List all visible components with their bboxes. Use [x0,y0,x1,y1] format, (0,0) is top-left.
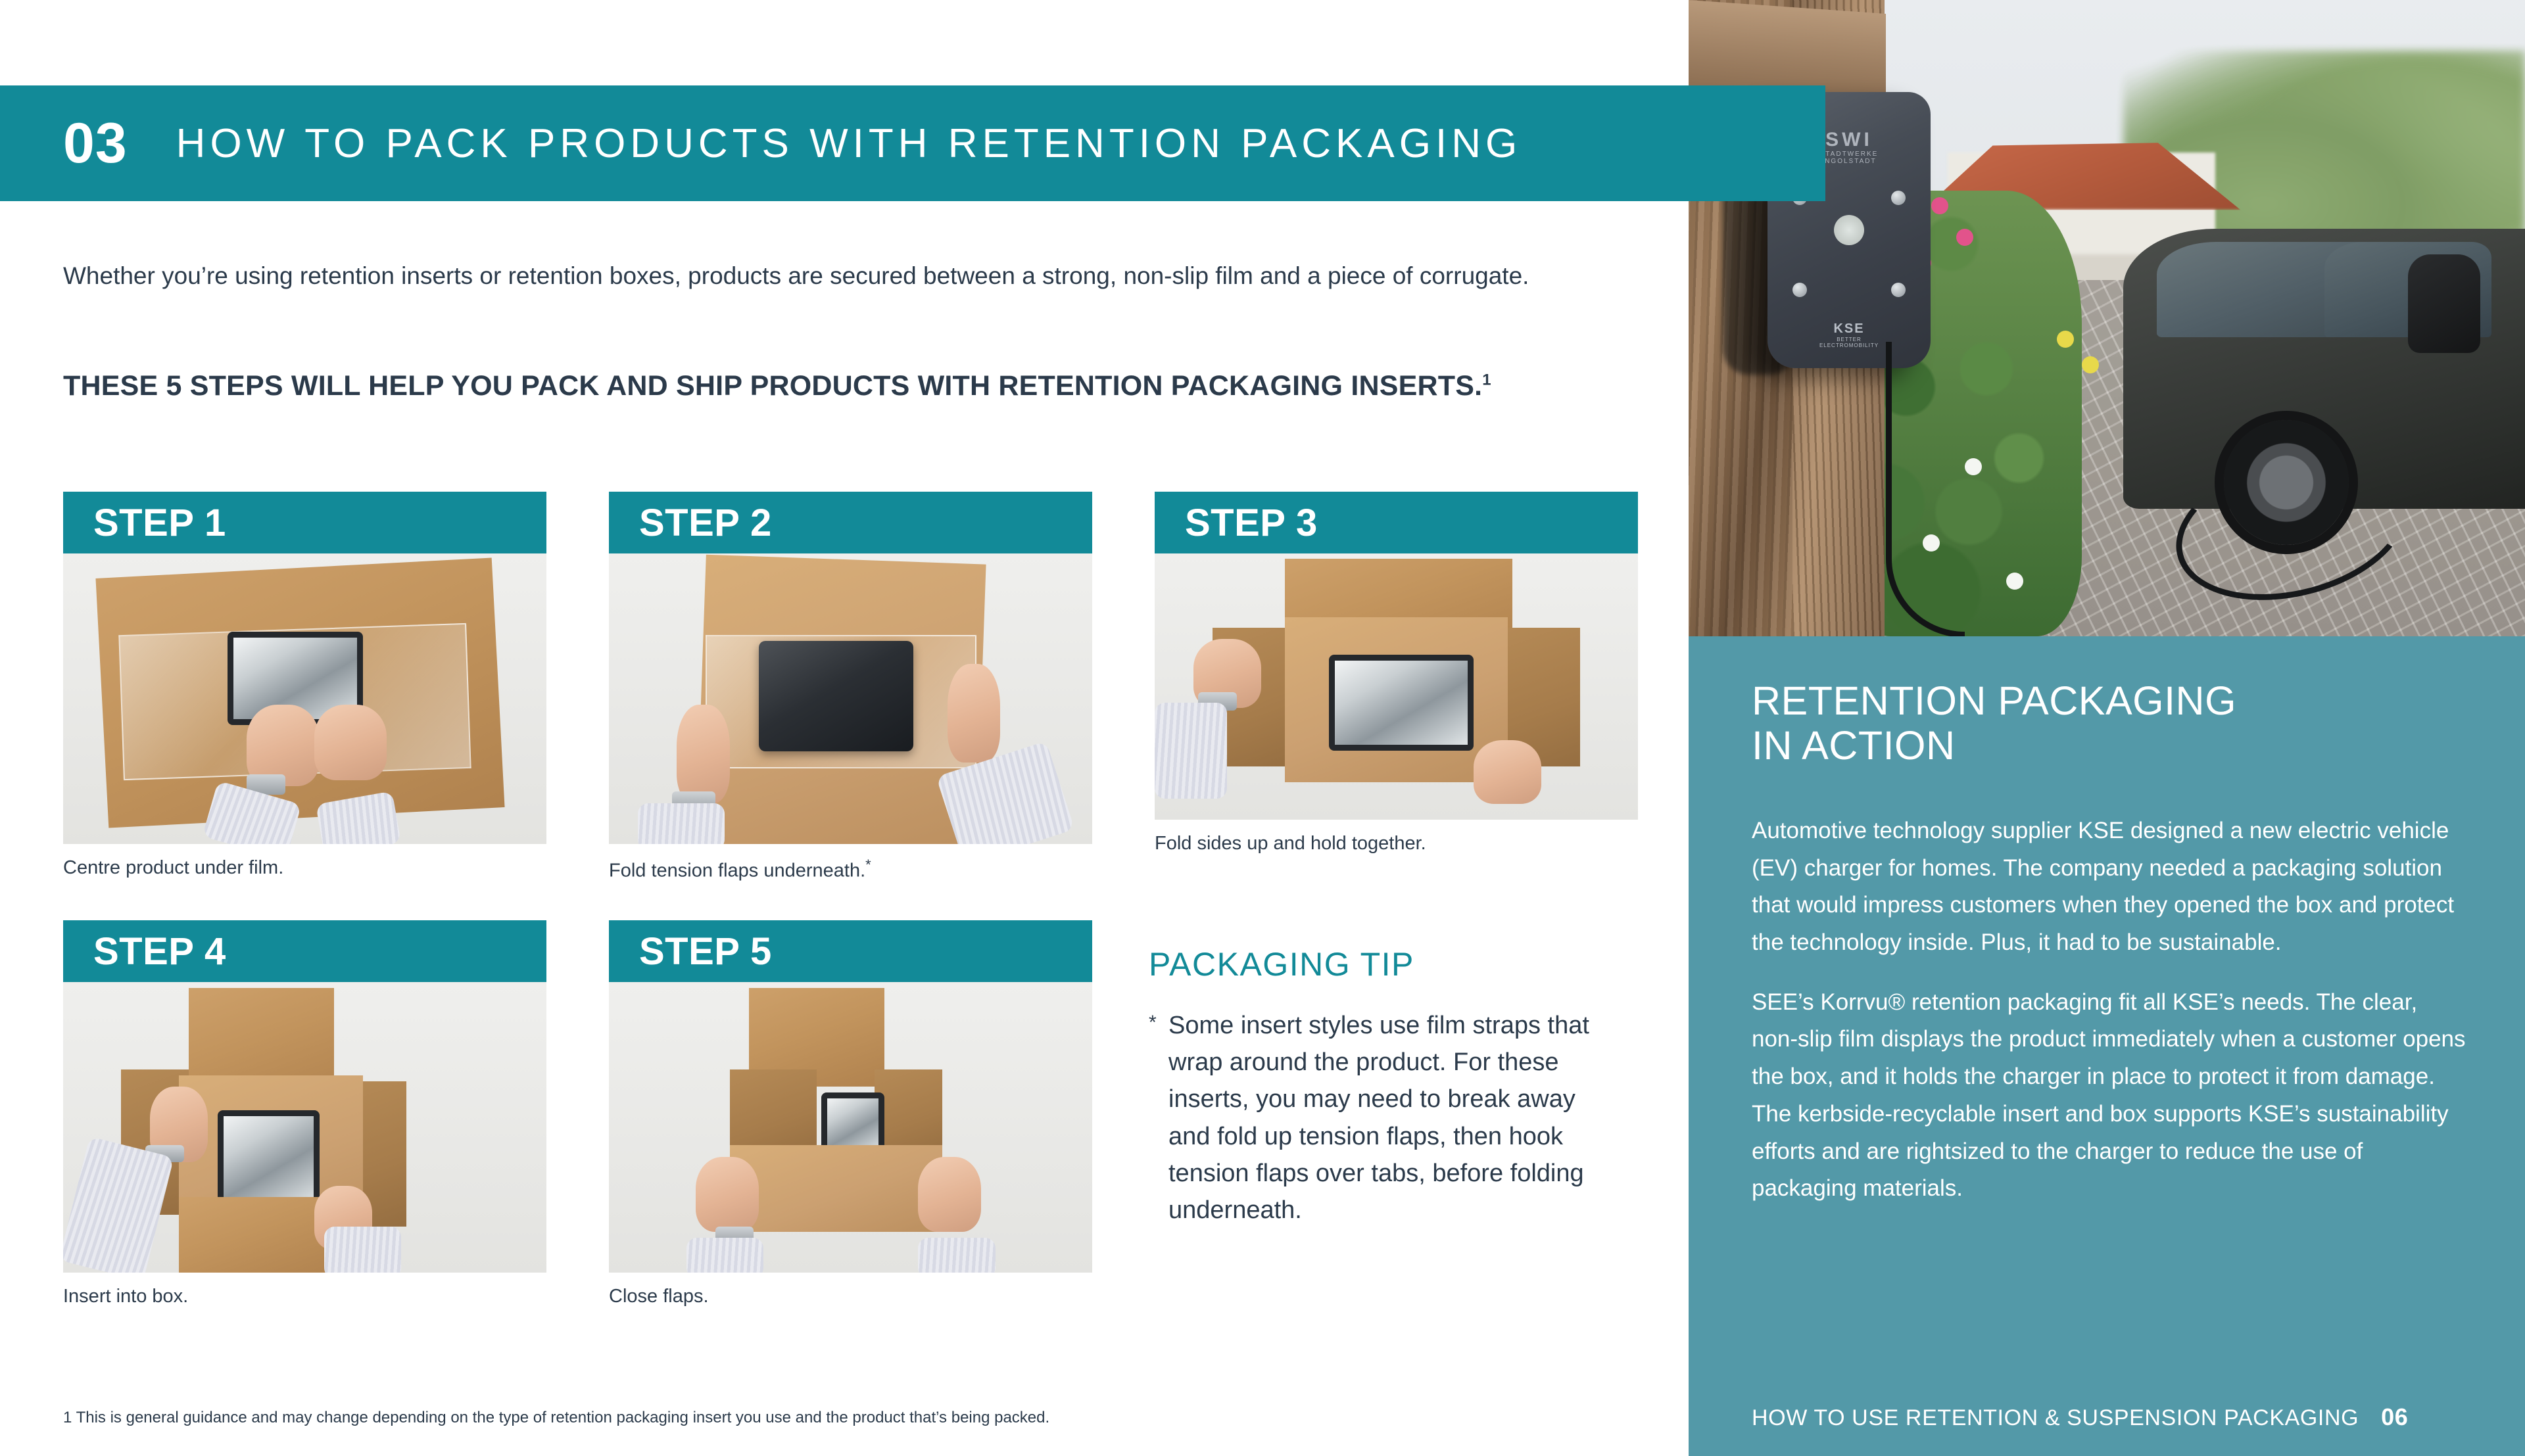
packaging-tip-heading: PACKAGING TIP [1149,945,1616,983]
step-label-4: STEP 4 [63,920,546,982]
packaging-tip: PACKAGING TIP *Some insert styles use fi… [1149,945,1616,1229]
step-caption-3: Fold sides up and hold together. [1155,832,1638,857]
yellow-flower [2057,331,2074,348]
packaging-tip-text: Some insert styles use film straps that … [1168,1012,1589,1224]
step-caption-text-4: Insert into box. [63,1286,188,1307]
step-label-2: STEP 2 [609,492,1092,553]
charging-plug [2408,254,2480,353]
step-photo-5 [609,982,1092,1273]
box-flap-front [730,1145,942,1233]
section-number: 03 [63,115,128,172]
shirt-sleeve-left [1155,703,1227,799]
step4-scene [63,982,546,1273]
step-label-1: STEP 1 [63,492,546,553]
packaging-tip-body: *Some insert styles use film straps that… [1149,1007,1616,1229]
yellow-flower [2082,356,2099,373]
pink-flower [1931,197,1948,214]
page-footer: HOW TO USE RETENTION & SUSPENSION PACKAG… [1752,1403,2480,1431]
step5-scene [609,982,1092,1273]
box-flap-left [730,1069,817,1157]
sidebar-heading-line1: RETENTION PACKAGING [1752,678,2236,723]
shirt-sleeve-right [918,1238,996,1273]
hand-right [314,705,387,780]
charging-cable-hanging [1886,342,1965,636]
charger-screw [1891,283,1906,297]
sidebar-heading-line2: IN ACTION [1752,723,1956,768]
step-caption-5: Close flaps. [609,1284,1092,1309]
step-card-2: STEP 2 Fold tension flaps underneath.* [609,492,1092,883]
product-dark [759,641,913,751]
step-caption-text-5: Close flaps. [609,1286,709,1307]
section-header-bar: 03 HOW TO PACK PRODUCTS WITH RETENTION P… [0,85,1825,201]
charger-screw [1891,191,1906,205]
wooden-post-cap [1689,0,1886,99]
step2-scene [609,553,1092,844]
hand-right [918,1157,981,1233]
step-card-5: STEP 5 Close flaps. [609,920,1092,1309]
hand-right [1474,740,1541,804]
step-label-3: STEP 3 [1155,492,1638,553]
footer-title: HOW TO USE RETENTION & SUSPENSION PACKAG… [1752,1405,2359,1431]
shirt-sleeve-left [638,803,725,844]
step1-scene [63,553,546,844]
sidebar-paragraph-1: Automotive technology supplier KSE desig… [1752,812,2468,962]
step3-scene [1155,553,1638,820]
step-caption-text-1: Centre product under film. [63,857,283,878]
intro-paragraph: Whether you’re using retention inserts o… [63,258,1589,294]
sidebar-heading: RETENTION PACKAGING IN ACTION [1752,678,2449,768]
product-in-film [1329,655,1474,751]
step-photo-1 [63,553,546,844]
step-card-1: STEP 1 Centre product under film. [63,492,546,883]
sidebar-body: Automotive technology supplier KSE desig… [1752,812,2468,1208]
retention-in-action-panel: RETENTION PACKAGING IN ACTION Automotive… [1689,636,2525,1456]
packaging-tip-marker: * [1149,1008,1157,1037]
step-caption-text-2: Fold tension flaps underneath. [609,860,865,881]
lead-heading: THESE 5 STEPS WILL HELP YOU PACK AND SHI… [63,367,1543,405]
footnote: 1 This is general guidance and may chang… [63,1407,1575,1429]
steps-row-1: STEP 1 Centre product under film. ST [63,492,1602,883]
hand-right [948,664,1001,763]
charger-maker-label: KSE BETTER ELECTROMOBILITY [1808,321,1890,348]
step-caption-4: Insert into box. [63,1284,546,1309]
white-flower [1965,458,1982,475]
lead-footnote-marker: 1 [1482,371,1491,389]
step-card-4: STEP 4 Insert into box. [63,920,546,1309]
step-caption-text-3: Fold sides up and hold together. [1155,833,1426,854]
step-caption-1: Centre product under film. [63,856,546,881]
section-title: HOW TO PACK PRODUCTS WITH RETENTION PACK… [176,120,1522,167]
charger-status-led [1834,215,1864,245]
step-label-5: STEP 5 [609,920,1092,982]
page-number: 06 [2381,1403,2408,1431]
product-insert [218,1110,319,1209]
shirt-sleeve-left [686,1238,764,1273]
hand-left [677,705,730,803]
shirt-sleeve-left [63,1137,174,1273]
step-caption-marker-2: * [865,857,871,873]
sidebar-paragraph-2: SEE’s Korrvu® retention packaging fit al… [1752,984,2468,1208]
step-caption-2: Fold tension flaps underneath.* [609,856,1092,883]
step-photo-2 [609,553,1092,844]
lead-heading-text: THESE 5 STEPS WILL HELP YOU PACK AND SHI… [63,370,1482,402]
box-flap-right [875,1069,942,1157]
shirt-sleeve-right [324,1227,402,1273]
charger-screw [1792,283,1807,297]
step-photo-4 [63,982,546,1273]
hand-left [696,1157,759,1233]
step-card-3: STEP 3 Fold sides up and hold together. [1155,492,1638,883]
step-photo-3 [1155,553,1638,820]
